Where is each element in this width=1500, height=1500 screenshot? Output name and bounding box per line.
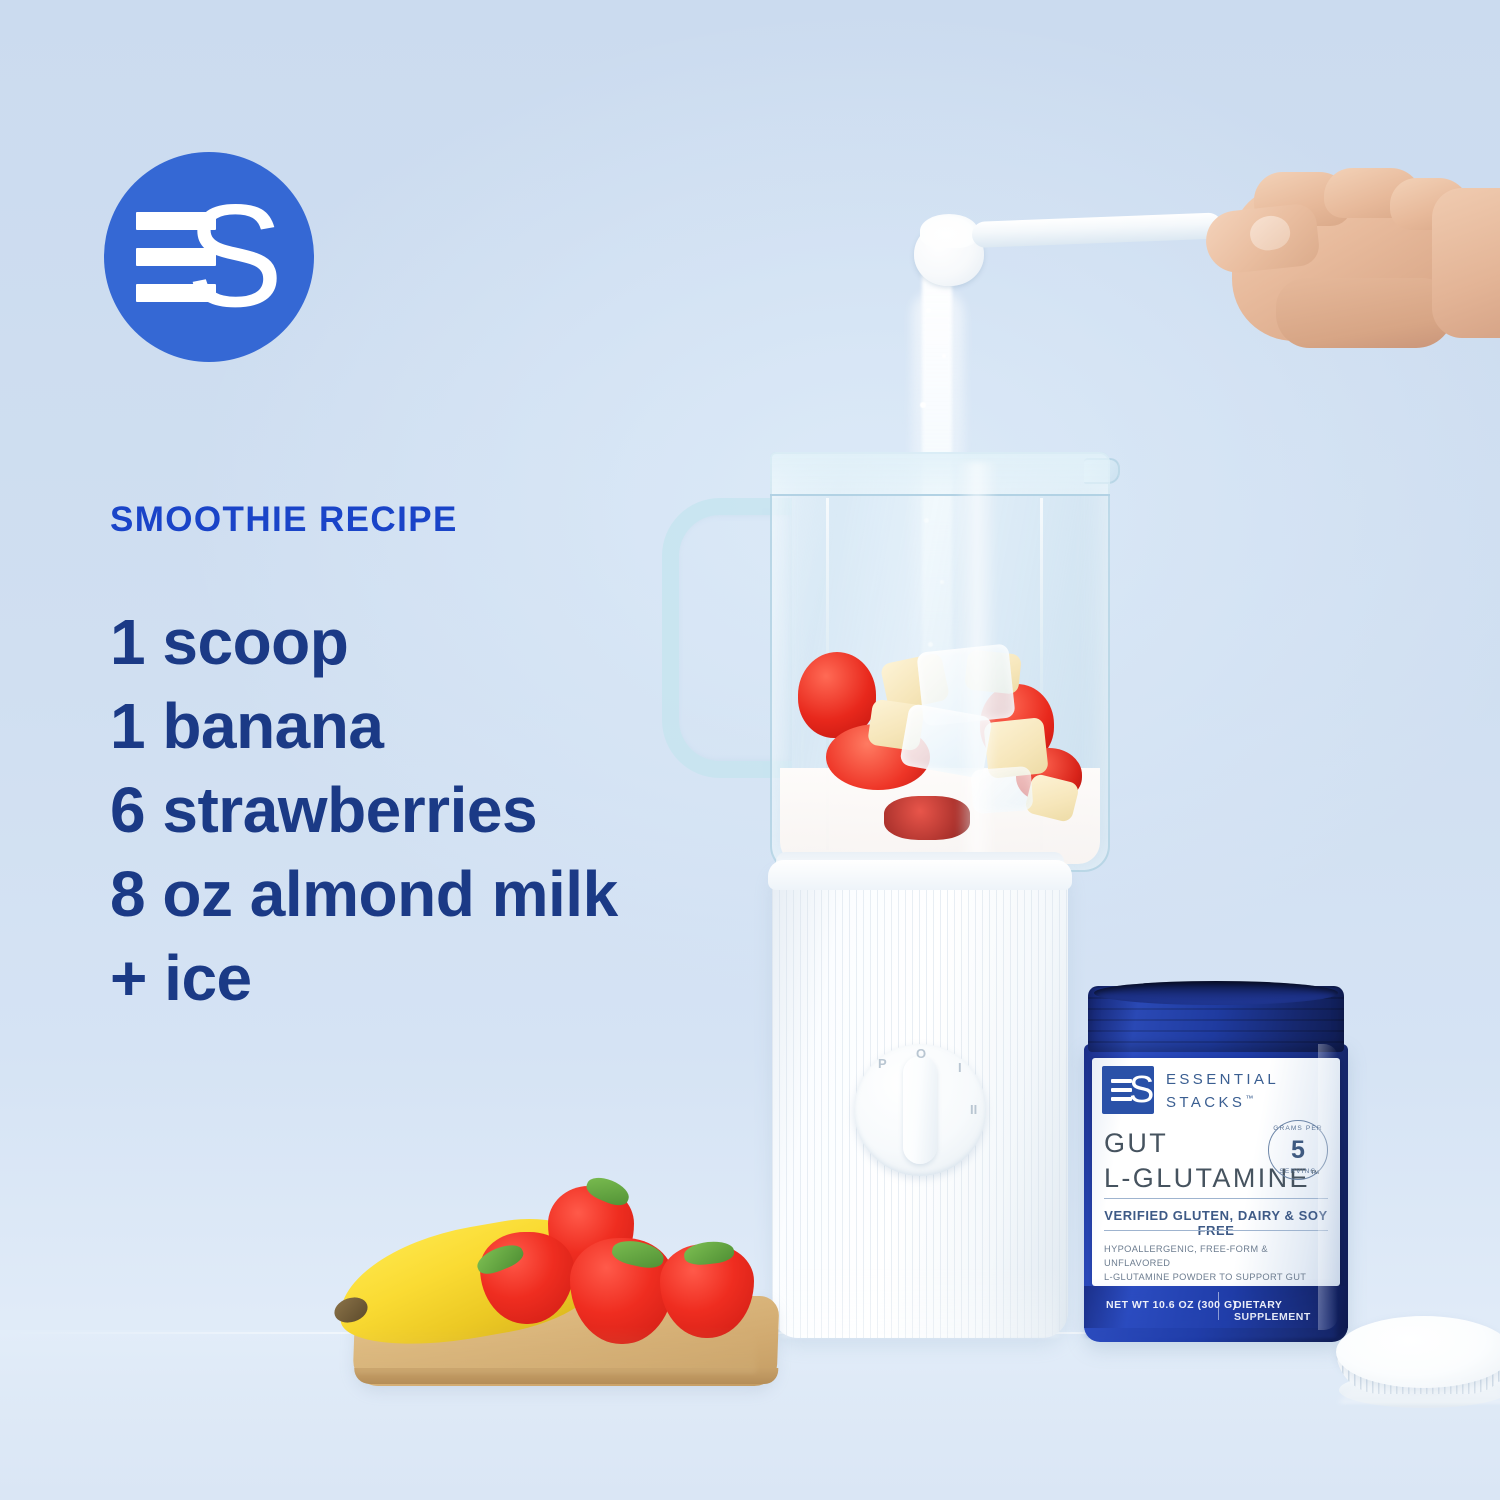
jar-glass-highlight	[956, 462, 998, 862]
label-brand-line1: ESSENTIAL	[1166, 1071, 1279, 1088]
supplement-jar-opening	[1094, 981, 1338, 1005]
recipe-line-1: 1 scoop	[110, 600, 750, 684]
blender-jar	[770, 452, 1110, 872]
label-es-logo: S	[1102, 1066, 1154, 1114]
smoothie-recipe-block: SMOOTHIE RECIPE 1 scoop 1 banana 6 straw…	[110, 500, 750, 1020]
hand-fingers	[1276, 278, 1454, 348]
recipe-line-3: 6 strawberries	[110, 768, 750, 852]
fine-print-line1: HYPOALLERGENIC, FREE-FORM & UNFLAVORED	[1104, 1242, 1336, 1270]
label-brand-trademark: ™	[1245, 1094, 1253, 1103]
scoop-handle	[972, 212, 1223, 248]
scoop-powder-mound	[920, 214, 978, 248]
blender-jar-rim	[770, 452, 1110, 496]
blender-base-top	[768, 860, 1072, 890]
hand-wrist	[1432, 188, 1500, 338]
dial-label-p: P	[878, 1056, 887, 1071]
dial-label-ii: II	[970, 1102, 977, 1117]
strawberry-body	[480, 1232, 574, 1324]
blender-reflection	[782, 1266, 1058, 1338]
strawberry-icon	[660, 1244, 754, 1338]
recipe-heading: SMOOTHIE RECIPE	[110, 500, 750, 540]
logo-letter-s: S	[186, 196, 286, 318]
label-brand-line2: STACKS	[1166, 1094, 1245, 1111]
cutting-board-reflection	[356, 1326, 756, 1374]
lid-top-surface	[1336, 1316, 1500, 1388]
hand-icon	[1192, 168, 1492, 358]
recipe-line-2: 1 banana	[110, 684, 750, 768]
recipe-line-4: 8 oz almond milk	[110, 852, 750, 936]
recipe-line-5: + ice	[110, 936, 750, 1020]
dial-label-i: I	[958, 1060, 962, 1075]
verified-claim: VERIFIED GLUTEN, DAIRY & SOY FREE	[1104, 1208, 1328, 1238]
dial-label-o: O	[916, 1046, 926, 1061]
supplement-jar-reflection	[1086, 1278, 1336, 1338]
powder-speck	[920, 402, 926, 408]
label-divider-top	[1104, 1198, 1328, 1199]
es-brand-logo: S	[104, 152, 314, 362]
dial-knob-pointer[interactable]	[903, 1056, 937, 1164]
label-brand-name: ESSENTIAL STACKS™	[1166, 1070, 1279, 1112]
product-lifestyle-scene: S SMOOTHIE RECIPE 1 scoop 1 banana 6 str…	[0, 0, 1500, 1500]
strawberry-icon	[480, 1232, 574, 1324]
blender-contents	[780, 628, 1100, 864]
blender-speed-dial[interactable]: P O I II	[854, 1044, 986, 1176]
label-logo-letter-s: S	[1129, 1073, 1154, 1107]
hand-holding-scoop	[900, 180, 1500, 380]
jar-lid	[1336, 1316, 1500, 1428]
product-label: S ESSENTIAL STACKS™ GUT L-GLUTAMINE™ GRA…	[1092, 1058, 1340, 1286]
product-name-line1: GUT	[1104, 1128, 1168, 1158]
label-divider-bottom	[1104, 1230, 1328, 1231]
